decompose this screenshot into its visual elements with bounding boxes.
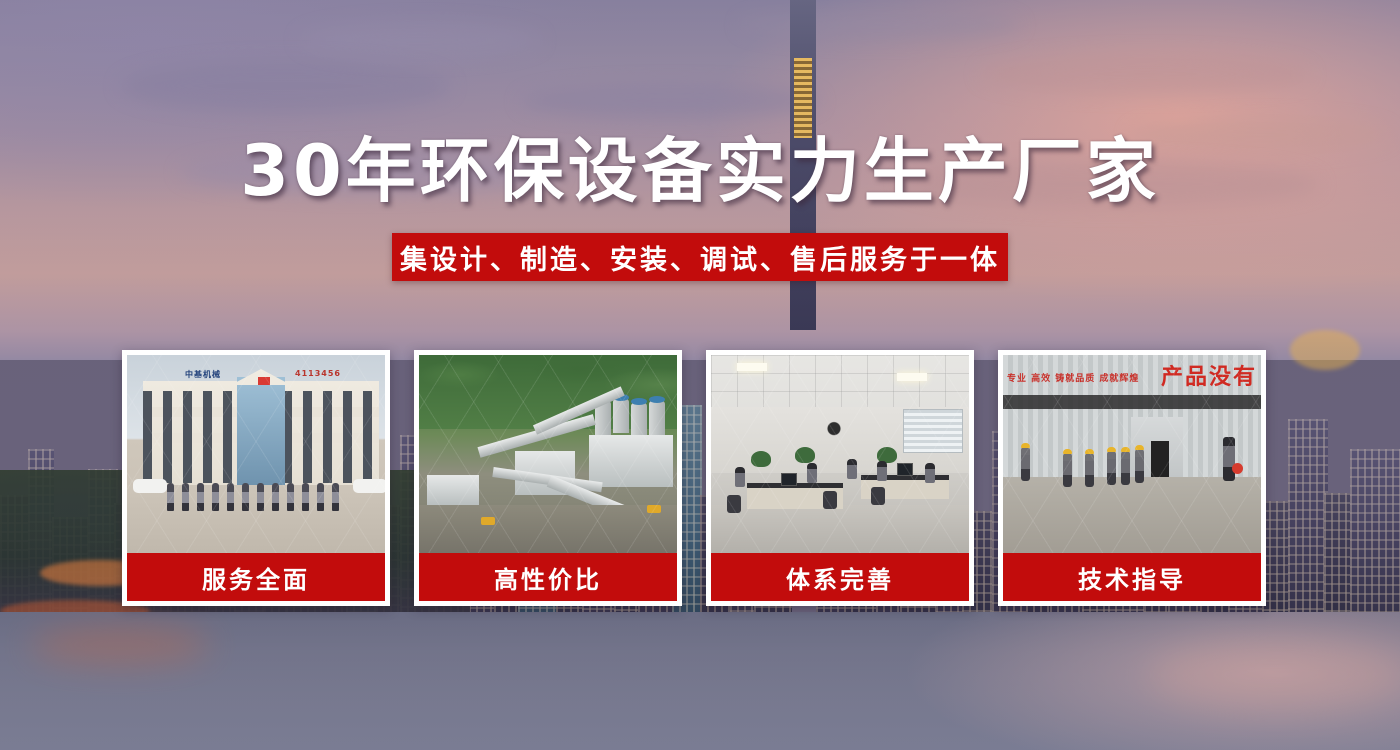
card-caption: 体系完善 (711, 553, 969, 601)
feature-card[interactable]: 体系完善 (706, 350, 974, 606)
company-headquarters-building-photo: 中基机械 4113456 (127, 355, 385, 553)
feature-card[interactable]: 中基机械 4113456 服务全面 (122, 350, 390, 606)
card-caption: 服务全面 (127, 553, 385, 601)
feature-card[interactable]: 产品没有 专业 高效 铸就品质 成就辉煌 技术指导 (998, 350, 1266, 606)
subtitle-text: 集设计、制造、安装、调试、售后服务于一体 (400, 238, 1000, 277)
banner-stage: 30年环保设备实力生产厂家 集设计、制造、安装、调试、售后服务于一体 中基机械 … (0, 0, 1400, 750)
factory-workers-training-photo: 产品没有 专业 高效 铸就品质 成就辉煌 (1003, 355, 1261, 553)
feature-card[interactable]: 高性价比 (414, 350, 682, 606)
page-title: 30年环保设备实力生产厂家 (0, 132, 1400, 210)
card-caption: 技术指导 (1003, 553, 1261, 601)
office-interior-staff-photo (711, 355, 969, 553)
subtitle-banner: 集设计、制造、安装、调试、售后服务于一体 (392, 233, 1008, 281)
aerial-production-plant-photo (419, 355, 677, 553)
feature-card-row: 中基机械 4113456 服务全面 (122, 350, 1278, 606)
card-caption: 高性价比 (419, 553, 677, 601)
